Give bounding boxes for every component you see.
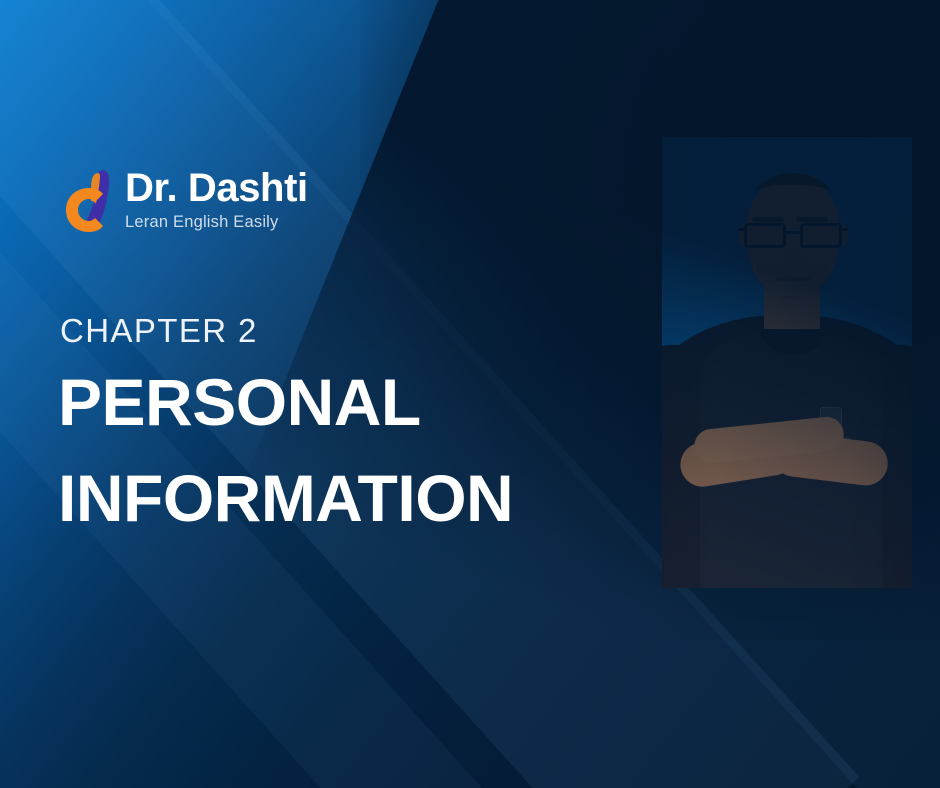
dd-monogram-icon xyxy=(62,168,116,234)
brand-logo-lockup: Dr. Dashti Leran English Easily xyxy=(62,166,308,234)
brand-text-block: Dr. Dashti Leran English Easily xyxy=(125,166,308,232)
bottom-gradient-band xyxy=(0,593,940,788)
title-slide: Dr. Dashti Leran English Easily CHAPTER … xyxy=(0,0,940,788)
chapter-label: CHAPTER 2 xyxy=(60,311,258,351)
page-title-line-2: INFORMATION xyxy=(58,462,513,534)
brand-name: Dr. Dashti xyxy=(125,166,308,210)
page-title-line-1: PERSONAL xyxy=(58,366,421,438)
brand-tagline: Leran English Easily xyxy=(125,212,308,232)
